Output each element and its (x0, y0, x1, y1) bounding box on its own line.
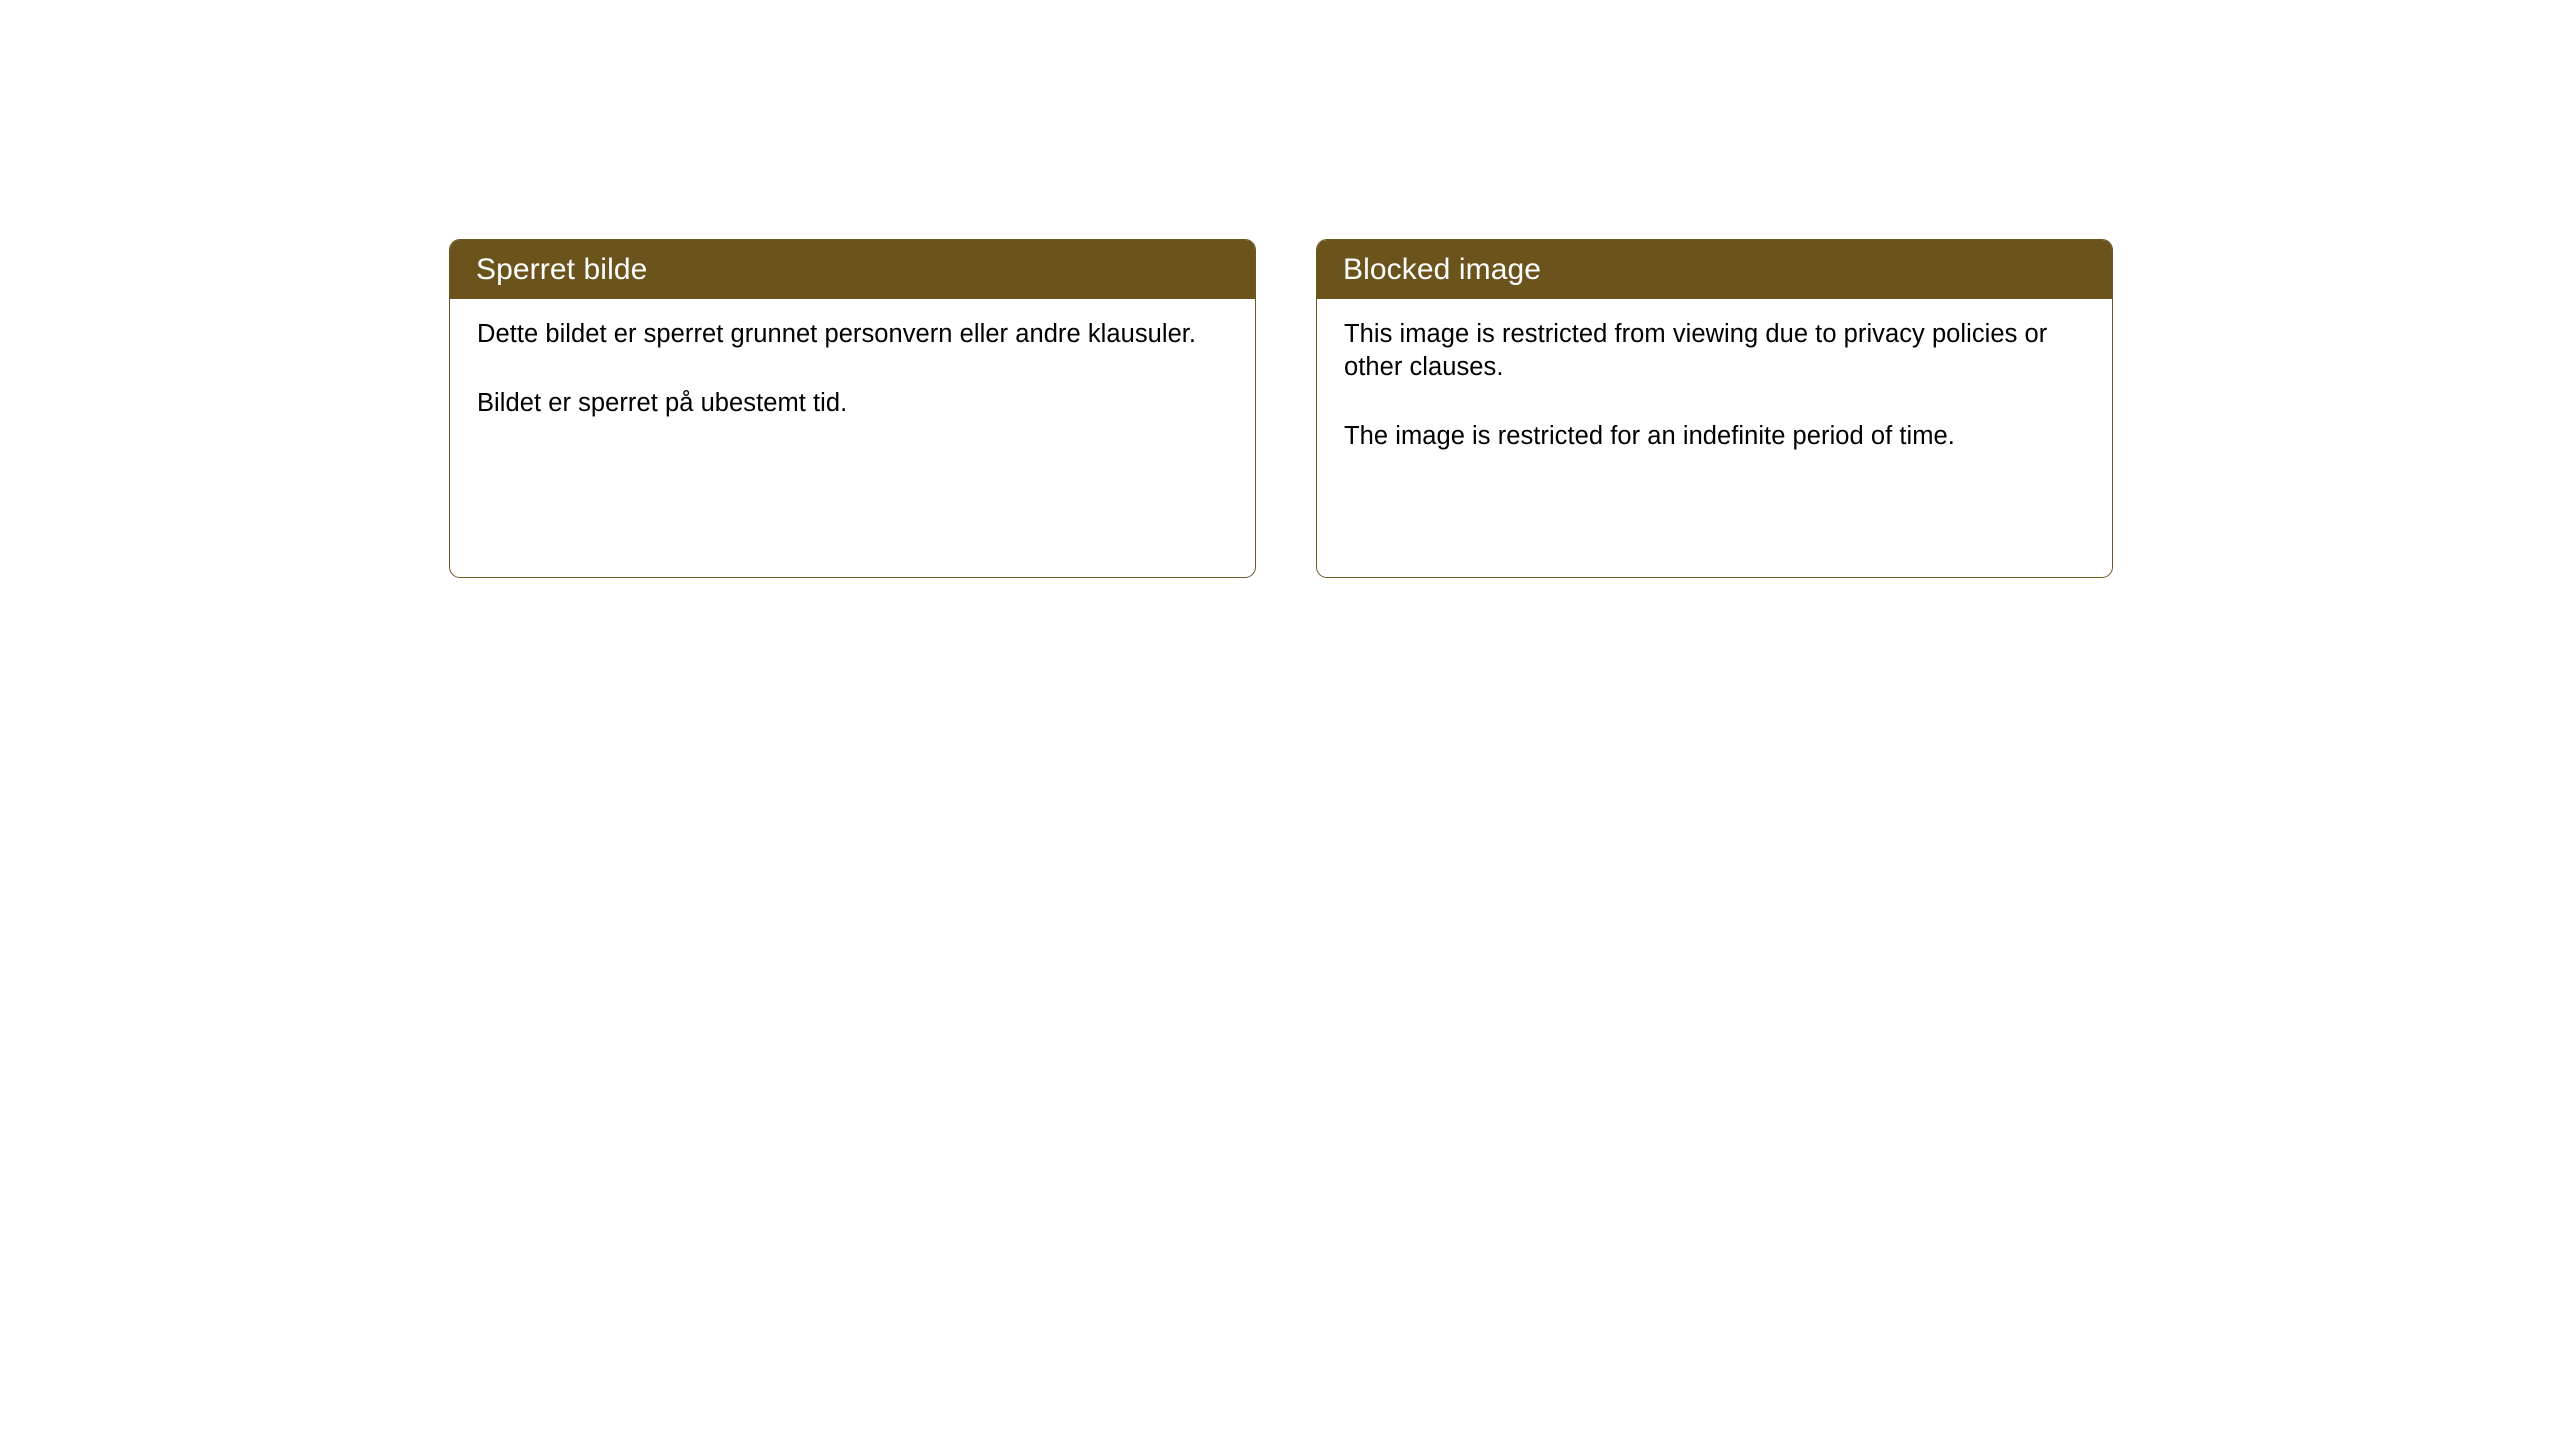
card-paragraph-reason-norwegian: Dette bildet er sperret grunnet personve… (477, 318, 1207, 351)
blocked-image-notice-area: Sperret bilde Dette bildet er sperret gr… (0, 0, 2560, 1440)
card-title-english: Blocked image (1343, 253, 1541, 287)
card-header-norwegian: Sperret bilde (450, 240, 1255, 299)
card-paragraph-duration-norwegian: Bildet er sperret på ubestemt tid. (477, 387, 1207, 420)
card-body-english: This image is restricted from viewing du… (1317, 299, 2112, 453)
card-body-norwegian: Dette bildet er sperret grunnet personve… (450, 299, 1255, 420)
card-paragraph-reason-english: This image is restricted from viewing du… (1344, 318, 2074, 384)
blocked-image-card-english: Blocked image This image is restricted f… (1316, 239, 2113, 578)
card-header-english: Blocked image (1317, 240, 2112, 299)
card-title-norwegian: Sperret bilde (476, 253, 647, 287)
blocked-image-card-norwegian: Sperret bilde Dette bildet er sperret gr… (449, 239, 1256, 578)
card-paragraph-duration-english: The image is restricted for an indefinit… (1344, 420, 2074, 453)
